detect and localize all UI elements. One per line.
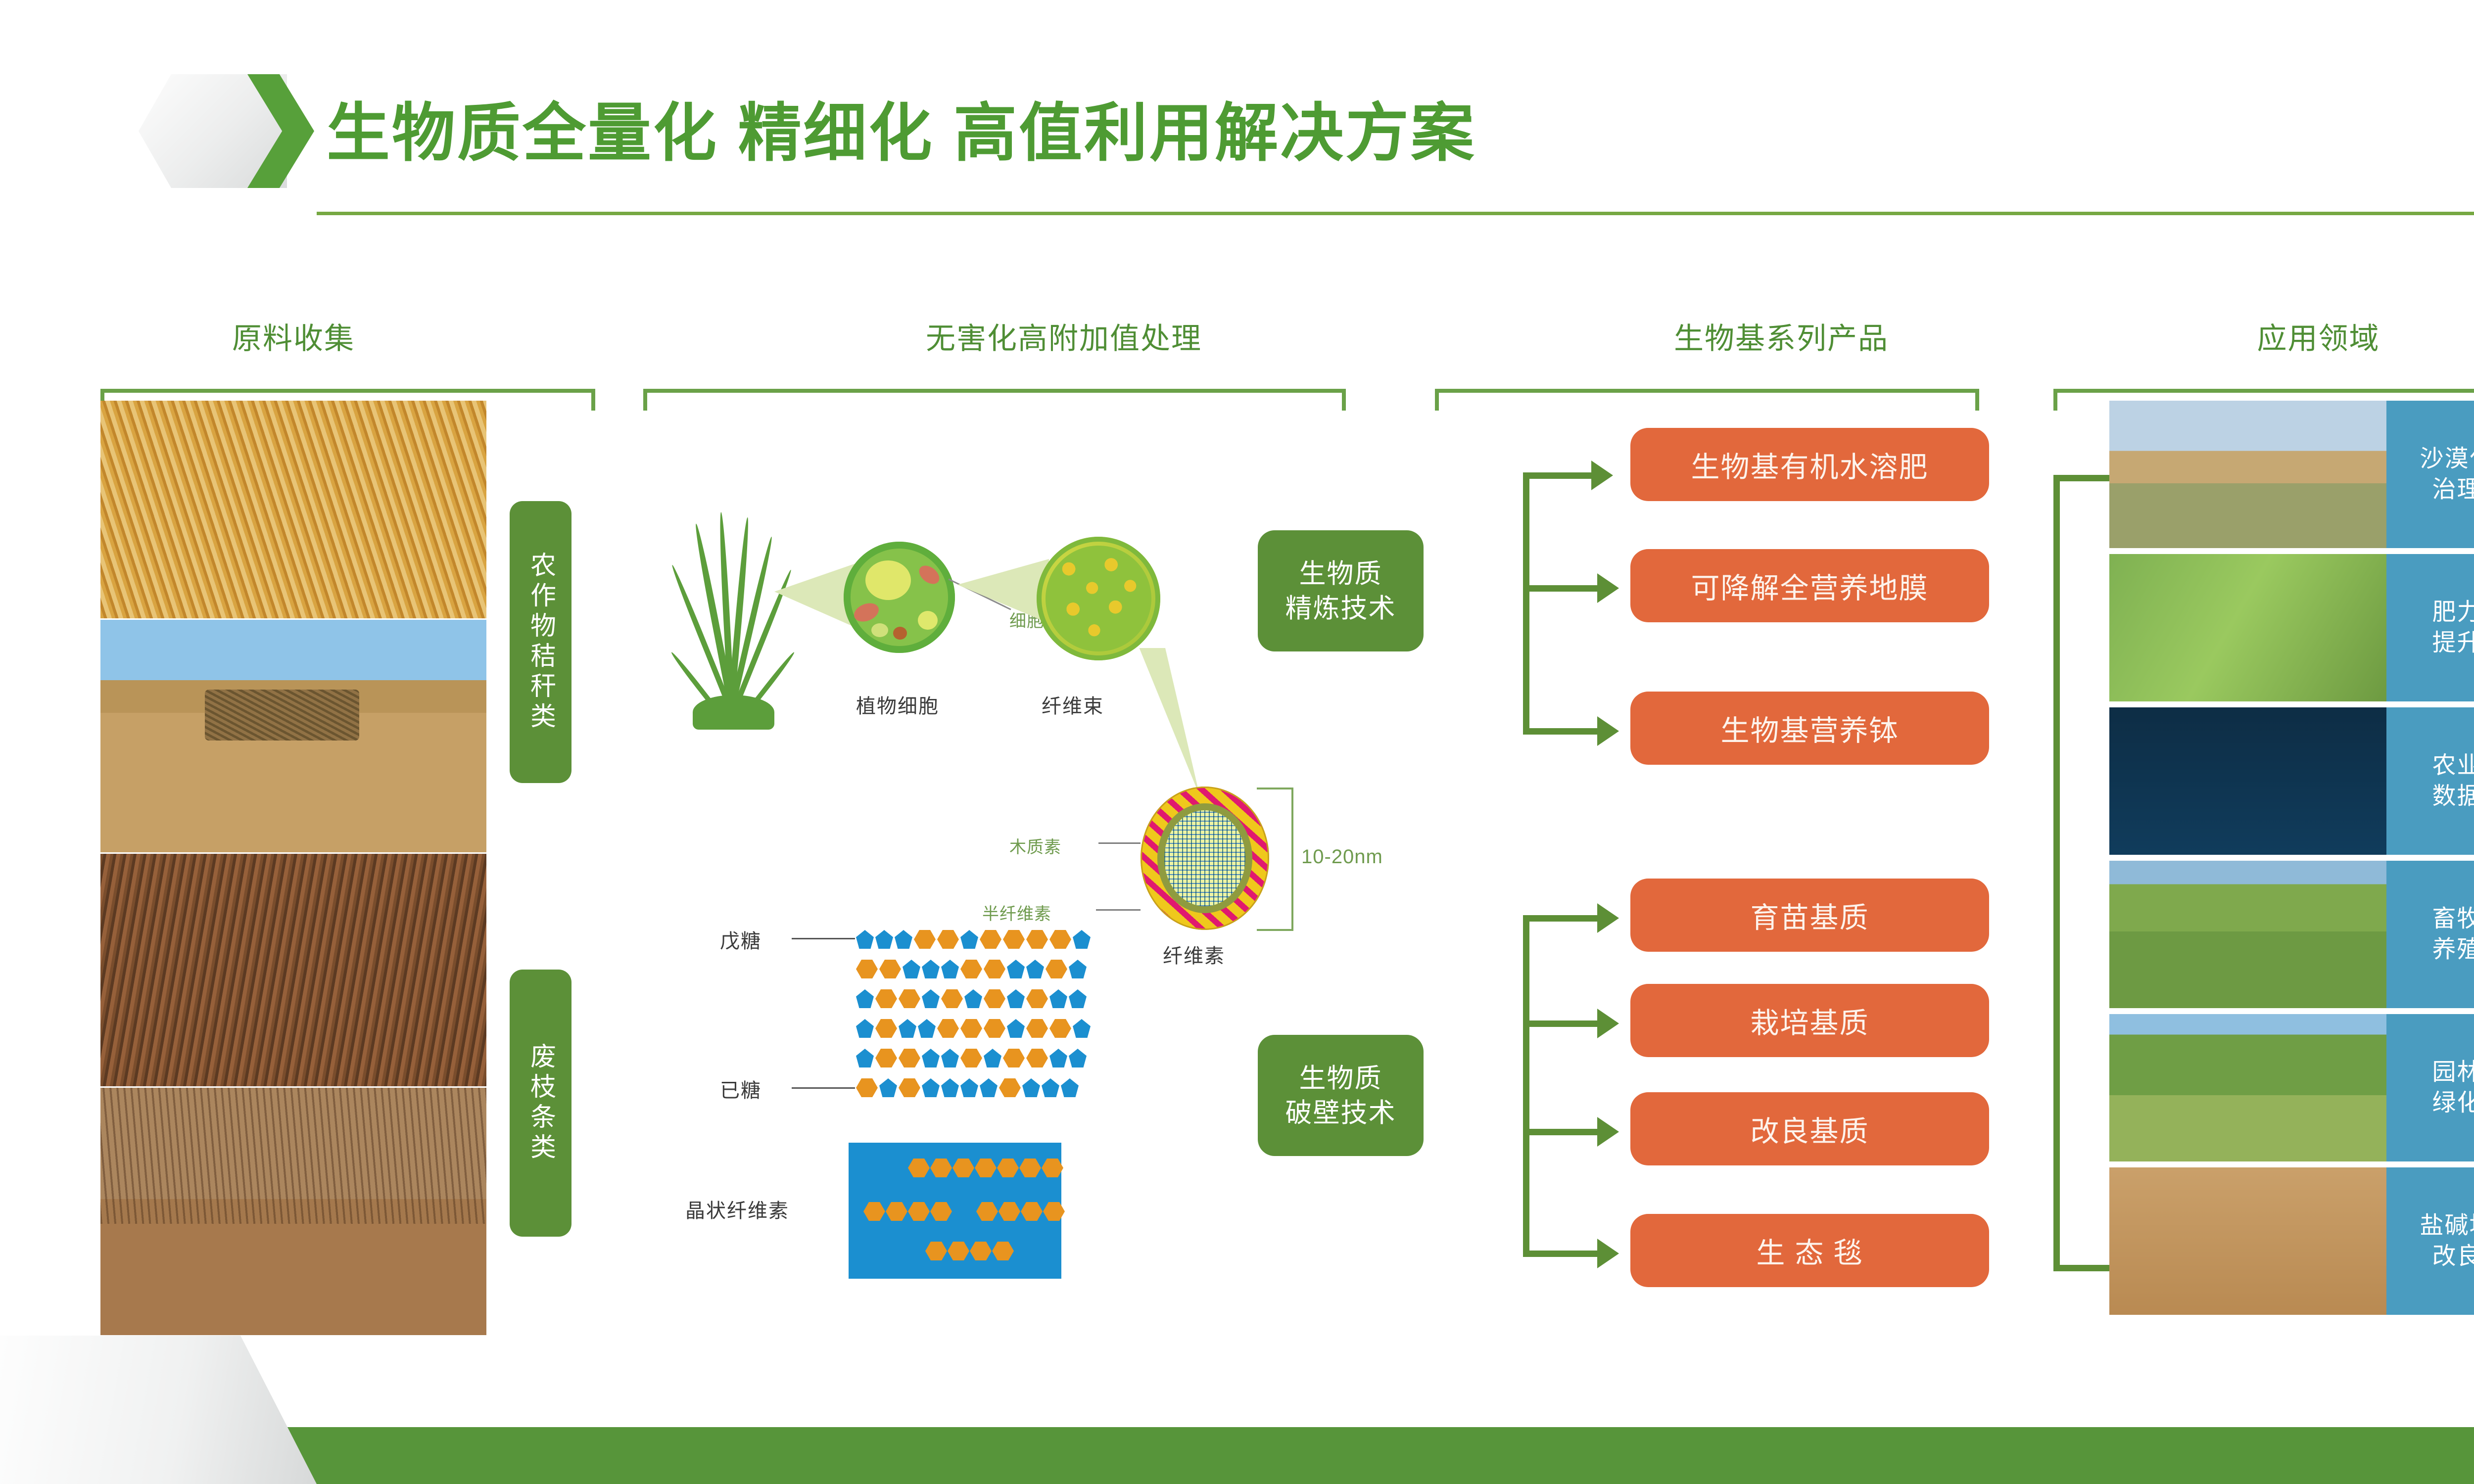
connector-trunk-cellwall — [1523, 915, 1529, 1256]
technology-chip-biomass-refining[interactable]: 生物质 精炼技术 — [1258, 530, 1424, 651]
application-label-livestock-breeding-line1: 畜牧 — [2432, 904, 2474, 934]
application-label-saline-alkali-improvement: 盐碱地 改良 — [2386, 1167, 2474, 1315]
arrow-refining-1 — [1591, 461, 1613, 490]
feedstock-chip-crop-straw: 农作物秸秆类 — [510, 501, 571, 783]
section-title-processing: 无害化高附加值处理 — [643, 315, 1484, 358]
application-label-saline-alkali-improvement-line1: 盐碱地 — [2420, 1210, 2474, 1241]
cellulose-label: 纤维素 — [1163, 940, 1225, 969]
connector-branch-cellwall-3 — [1523, 1129, 1598, 1135]
photo-straw-bale — [100, 620, 486, 852]
arrow-cellwall-1 — [1597, 903, 1619, 933]
application-label-livestock-breeding-line2: 养殖 — [2432, 934, 2474, 965]
bracket-processing — [643, 389, 1346, 411]
hemicellulose-label: 半纤维素 — [982, 900, 1051, 925]
page-header: 生物质全量化 精细化 高值利用解决方案 — [0, 0, 2474, 232]
section-title-raw-material-collection: 原料收集 — [100, 315, 486, 358]
connector-bottom-applications — [2053, 1265, 2110, 1271]
technology-chip-cellwall-breaking-line2: 破壁技术 — [1285, 1096, 1396, 1130]
microfibril-cross-section — [1141, 787, 1269, 930]
connector-trunk-refining — [1523, 472, 1529, 735]
fiber-bundle-label: 纤维束 — [1042, 690, 1104, 719]
application-row-saline-alkali-improvement[interactable]: 盐碱地 改良 — [2109, 1167, 2474, 1315]
photo-desert-control — [2109, 401, 2386, 548]
product-chip-biobased-nutrient-pot[interactable]: 生物基营养钵 — [1630, 692, 1989, 765]
application-label-fertility-improvement-line1: 肥力 — [2432, 597, 2474, 628]
section-title-products: 生物基系列产品 — [1484, 315, 2078, 358]
connector-branch-cellwall-2 — [1523, 1020, 1598, 1027]
application-row-fertility-improvement[interactable]: 肥力 提升 — [2109, 554, 2474, 701]
photo-saline-alkali-land — [2109, 1167, 2386, 1315]
dimension-label: 10-20nm — [1301, 846, 1383, 868]
product-chip-cultivation-substrate[interactable]: 栽培基质 — [1630, 984, 1989, 1057]
technology-chip-biomass-refining-line2: 精炼技术 — [1285, 591, 1396, 626]
bracket-products — [1435, 389, 1979, 411]
lignin-label: 木质素 — [1009, 834, 1061, 858]
application-label-landscape-greening-line2: 绿化 — [2432, 1088, 2474, 1118]
magnify-cone-3 — [1113, 648, 1200, 796]
connector-top-applications — [2053, 475, 2110, 481]
application-label-desert-control: 沙漠化 治理 — [2386, 401, 2474, 548]
dimension-bracket — [1291, 788, 1293, 931]
dimension-tick-bottom — [1257, 929, 1293, 931]
application-row-desert-control[interactable]: 沙漠化 治理 — [2109, 401, 2474, 548]
photo-sheep-grazing — [2109, 861, 2386, 1008]
plant-cell-illustration — [844, 542, 955, 653]
arrow-cellwall-3 — [1597, 1117, 1619, 1147]
photo-branch-pile — [100, 854, 486, 1086]
photo-corn-stover — [100, 401, 486, 618]
hemicellulose-leader-line — [1096, 909, 1141, 911]
application-label-agricultural-data-line1: 农业 — [2432, 750, 2474, 781]
section-title-applications: 应用领域 — [2109, 315, 2474, 358]
plant-cell-label: 植物细胞 — [856, 690, 939, 719]
application-label-landscape-greening: 园林 绿化 — [2386, 1014, 2474, 1161]
feedstock-chip-crop-straw-label: 农作物秸秆类 — [525, 552, 556, 733]
photo-agri-data-dashboard — [2109, 707, 2386, 855]
application-label-agricultural-data-line2: 数据 — [2432, 781, 2474, 812]
lignin-leader-line — [1098, 842, 1141, 844]
arrow-refining-3 — [1597, 716, 1619, 746]
application-label-landscape-greening-line1: 园林 — [2432, 1057, 2474, 1088]
feedstock-chip-waste-branches: 废枝条类 — [510, 970, 571, 1237]
application-label-fertility-improvement: 肥力 提升 — [2386, 554, 2474, 701]
product-chip-improvement-substrate[interactable]: 改良基质 — [1630, 1092, 1989, 1165]
crystalline-cellulose-label: 晶状纤维素 — [685, 1195, 789, 1223]
pentose-label: 戊糖 — [720, 925, 761, 954]
application-label-saline-alkali-improvement-line2: 改良 — [2432, 1241, 2474, 1272]
photo-landscape-greening — [2109, 1014, 2386, 1161]
feedstock-photo-column — [100, 401, 486, 1336]
hexose-leader-line — [792, 1087, 855, 1089]
application-row-landscape-greening[interactable]: 园林 绿化 — [2109, 1014, 2474, 1161]
application-label-desert-control-line2: 治理 — [2432, 474, 2474, 505]
product-chip-seedling-substrate[interactable]: 育苗基质 — [1630, 879, 1989, 952]
title-underline-divider — [317, 212, 2474, 215]
page-title: 生物质全量化 精细化 高值利用解决方案 — [327, 79, 1476, 188]
arrow-cellwall-2 — [1597, 1009, 1619, 1038]
application-label-desert-control-line1: 沙漠化 — [2420, 444, 2474, 474]
application-row-livestock-breeding[interactable]: 畜牧 养殖 — [2109, 861, 2474, 1008]
application-row-agricultural-data[interactable]: 农业 数据 — [2109, 707, 2474, 855]
connector-branch-cellwall-4 — [1523, 1251, 1598, 1257]
application-label-agricultural-data: 农业 数据 — [2386, 707, 2474, 855]
technology-chip-cellwall-breaking-line1: 生物质 — [1299, 1061, 1382, 1096]
photo-cabbage-field — [2109, 554, 2386, 701]
technology-chip-biomass-refining-line1: 生物质 — [1299, 556, 1382, 591]
connector-branch-refining-1 — [1523, 472, 1592, 479]
application-label-livestock-breeding: 畜牧 养殖 — [2386, 861, 2474, 1008]
application-label-fertility-improvement-line2: 提升 — [2432, 628, 2474, 658]
footer-bar — [277, 1427, 2474, 1484]
product-chip-organic-water-soluble-fertilizer[interactable]: 生物基有机水溶肥 — [1630, 428, 1989, 501]
crystalline-cellulose-illustration — [849, 1143, 1061, 1279]
dimension-tick-top — [1257, 788, 1293, 789]
feedstock-chip-waste-branches-label: 废枝条类 — [525, 1043, 556, 1163]
footer-wedge-decoration — [0, 1336, 317, 1484]
arrow-cellwall-4 — [1597, 1239, 1619, 1268]
arrow-refining-2 — [1597, 573, 1619, 603]
connector-branch-refining-2 — [1523, 585, 1598, 592]
product-chip-ecological-blanket[interactable]: 生 态 毯 — [1630, 1214, 1989, 1287]
pentose-leader-line — [792, 938, 855, 939]
fiber-bundle-illustration — [1037, 537, 1160, 660]
connector-branch-cellwall-1 — [1523, 915, 1598, 922]
product-chip-degradable-nutrient-mulch-film[interactable]: 可降解全营养地膜 — [1630, 549, 1989, 622]
connector-trunk-applications — [2053, 475, 2060, 1271]
connector-branch-refining-3 — [1523, 728, 1598, 735]
hexose-label: 已糖 — [720, 1074, 761, 1103]
technology-chip-cellwall-breaking[interactable]: 生物质 破壁技术 — [1258, 1035, 1424, 1156]
photo-vineyard-pruning — [100, 1088, 486, 1335]
